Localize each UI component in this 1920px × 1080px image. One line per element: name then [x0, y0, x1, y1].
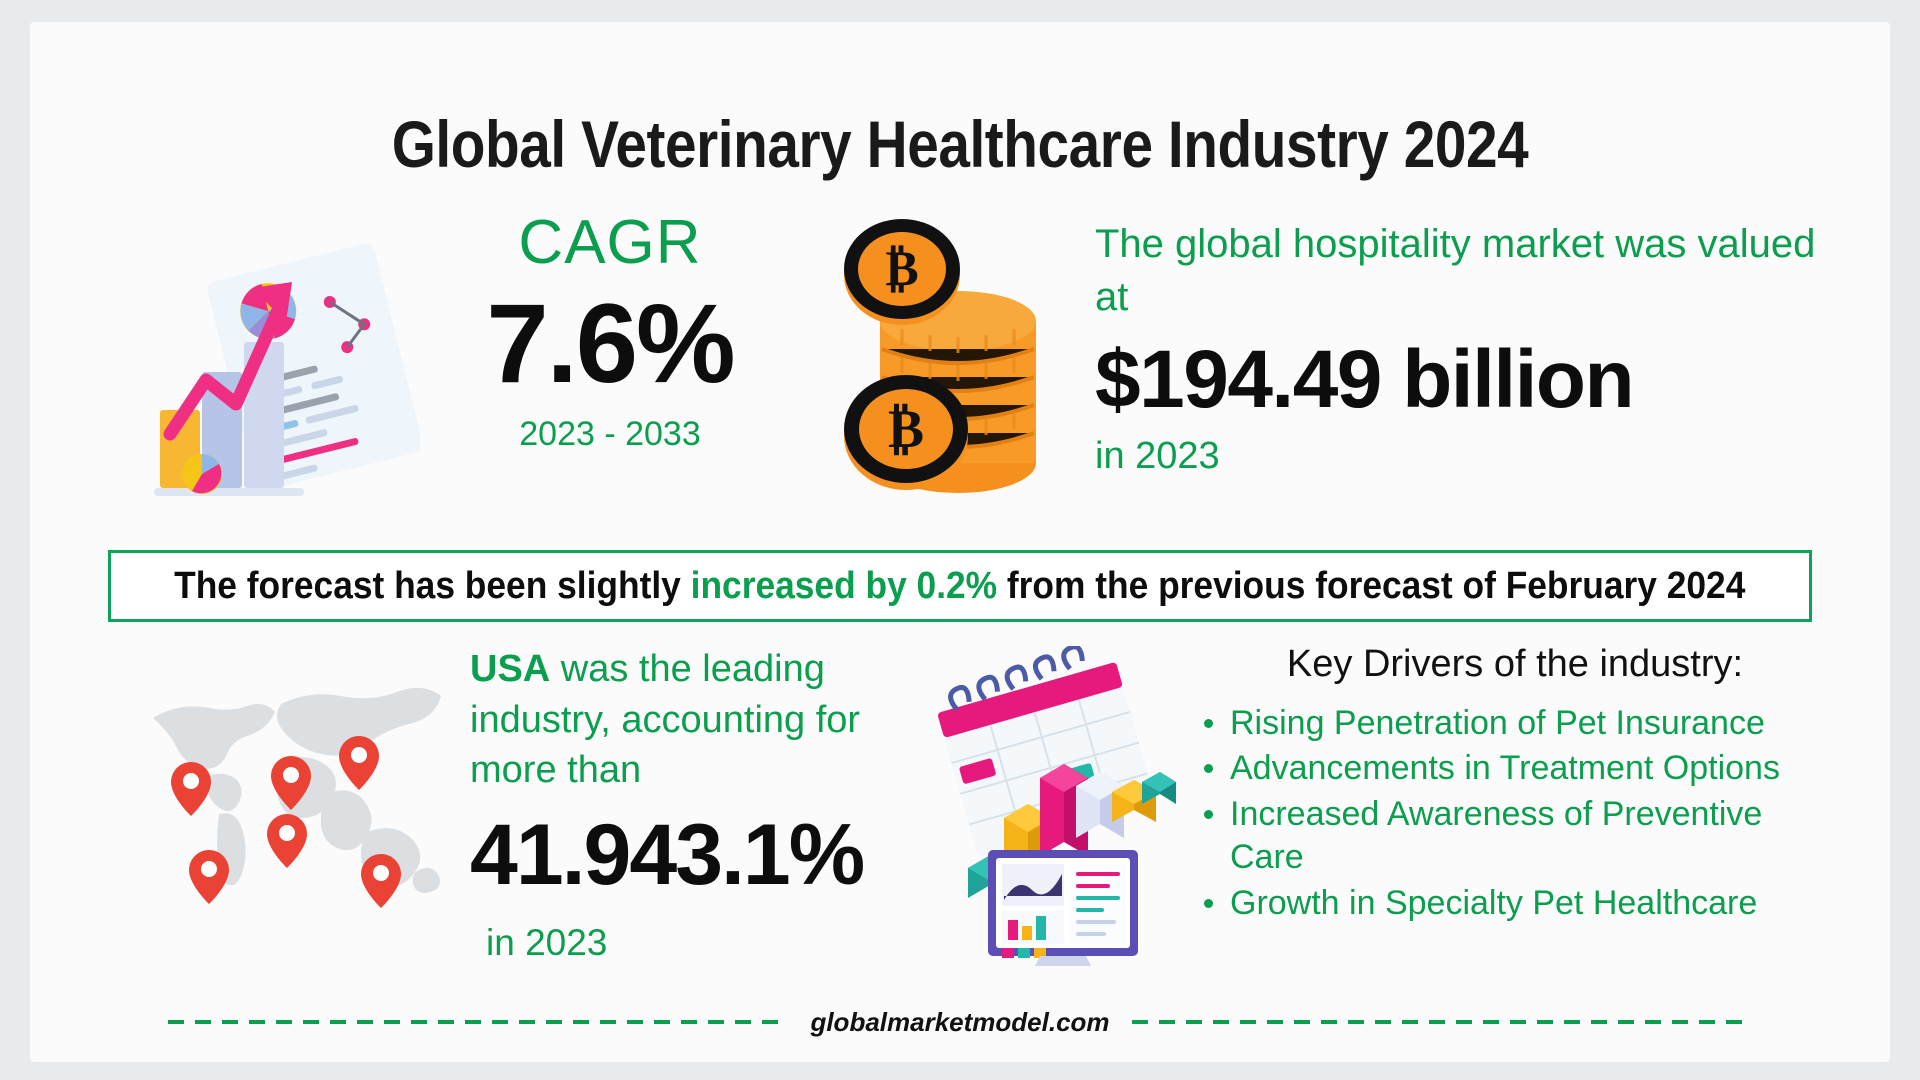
forecast-banner: The forecast has been slightly increased… [108, 550, 1812, 622]
region-year: in 2023 [486, 923, 920, 964]
cagr-range: 2023 - 2033 [430, 416, 790, 453]
cagr-value: 7.6% [430, 274, 790, 414]
key-drivers-list: Rising Penetration of Pet Insurance Adva… [1190, 702, 1840, 926]
region-block: USA was the leading industry, accounting… [470, 644, 920, 963]
key-drivers-block: Key Drivers of the industry: Rising Pene… [1190, 642, 1840, 927]
banner-part1: The forecast has been slightly [174, 565, 691, 607]
key-drivers-title: Key Drivers of the industry: [1190, 642, 1840, 688]
footer-divider-right [1132, 1020, 1752, 1024]
bitcoin-coins-icon: ₿ ₿ [840, 217, 1055, 517]
list-item: Increased Awareness of Preventive Care [1190, 793, 1840, 880]
infographic-card: Global Veterinary Healthcare Industry 20… [30, 22, 1890, 1062]
footer-divider-left [168, 1020, 788, 1024]
calendar-dashboard-illustration-icon [920, 646, 1190, 966]
footer: globalmarketmodel.com [30, 997, 1890, 1047]
top-row: CAGR 7.6% 2023 - 2033 [30, 212, 1890, 542]
list-item: Advancements in Treatment Options [1190, 747, 1840, 791]
region-value: 41.943.1% [470, 804, 920, 907]
market-value: $194.49 billion [1095, 330, 1835, 430]
chart-illustration-icon [140, 222, 420, 512]
banner-highlight: increased by 0.2% [691, 565, 997, 607]
list-item: Rising Penetration of Pet Insurance [1190, 702, 1840, 746]
region-lead-text: USA was the leading industry, accounting… [470, 644, 920, 796]
market-year: in 2023 [1095, 436, 1835, 478]
list-item: Growth in Specialty Pet Healthcare [1190, 882, 1840, 926]
cagr-label: CAGR [430, 212, 790, 274]
svg-text:₿: ₿ [888, 399, 924, 459]
cagr-block: CAGR 7.6% 2023 - 2033 [430, 212, 790, 453]
svg-text:₿: ₿ [885, 240, 918, 296]
bottom-row: USA was the leading industry, accounting… [30, 634, 1890, 984]
forecast-banner-text: The forecast has been slightly increased… [174, 565, 1745, 608]
world-map-icon [135, 664, 455, 914]
region-country: USA [470, 648, 550, 690]
footer-source: globalmarketmodel.com [788, 1007, 1131, 1038]
market-value-block: The global hospitality market was valued… [1095, 218, 1835, 477]
market-lead-text: The global hospitality market was valued… [1095, 218, 1835, 324]
banner-part2: from the previous forecast of February 2… [997, 565, 1745, 607]
page-title: Global Veterinary Healthcare Industry 20… [160, 106, 1760, 182]
